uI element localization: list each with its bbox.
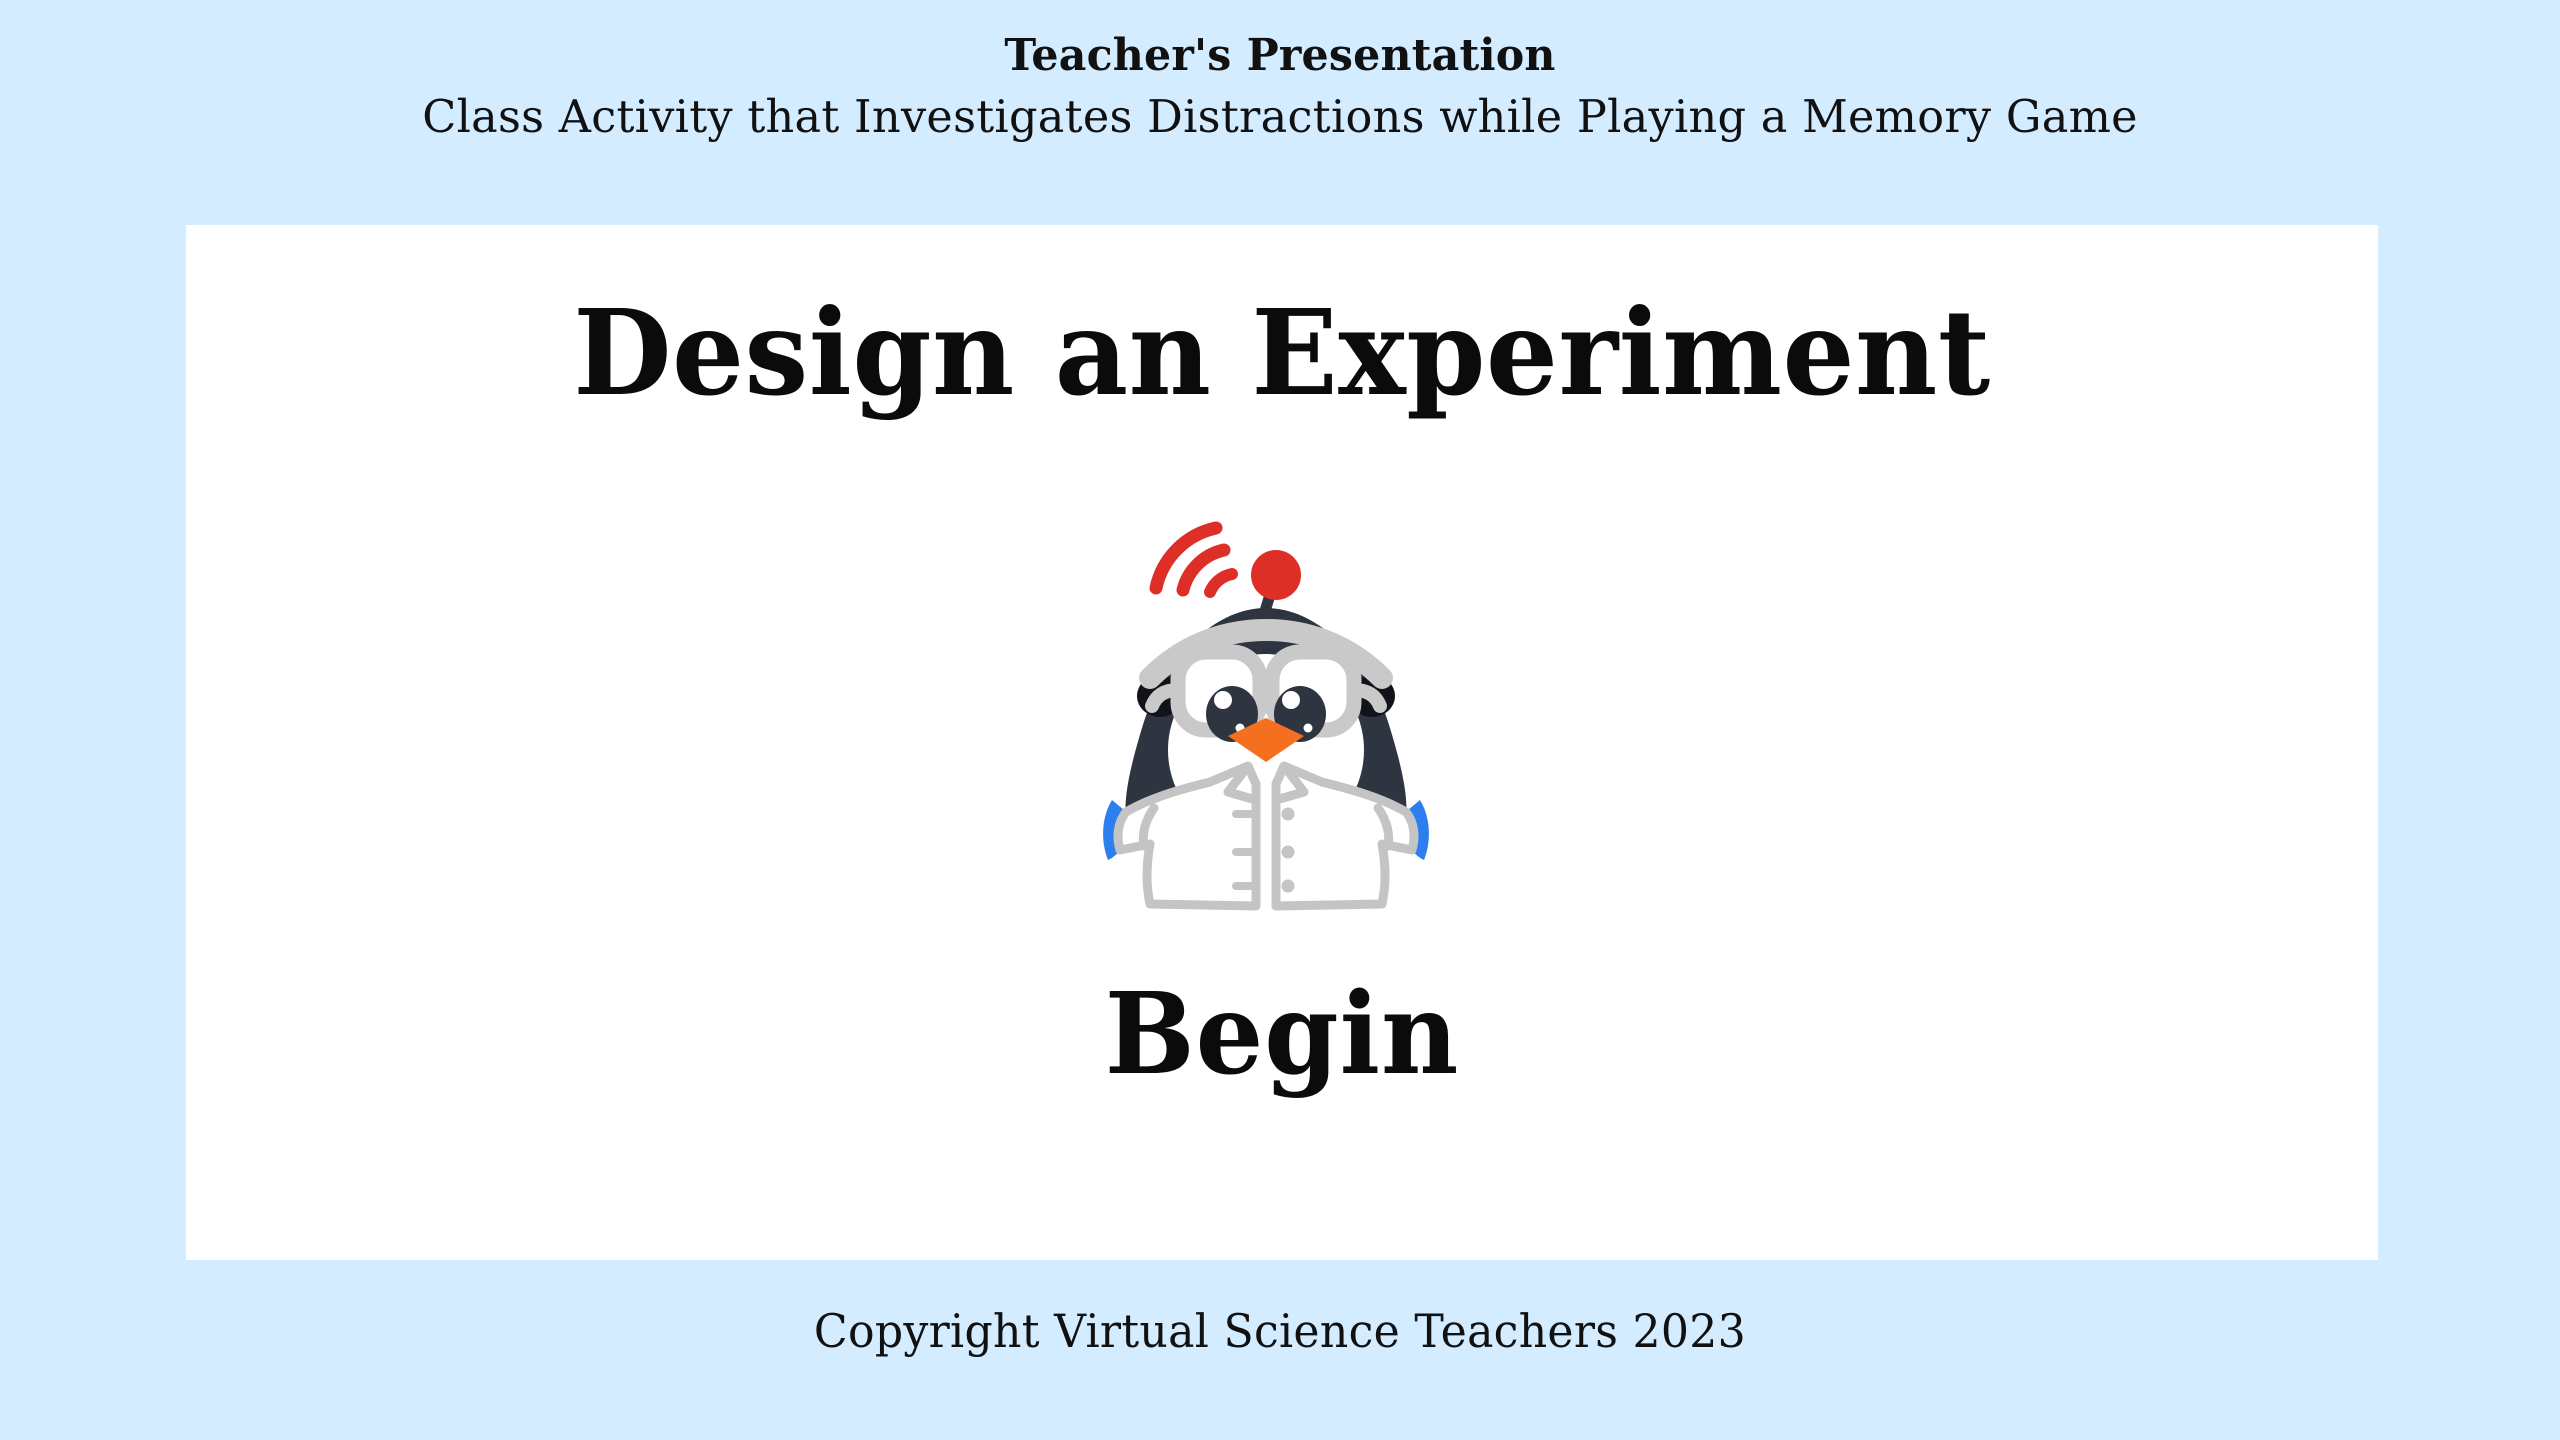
slide-title: Design an Experiment [230, 283, 2334, 423]
presentation-header-subtitle: Class Activity that Investigates Distrac… [13, 86, 2547, 148]
penguin-scientist-mascot [1060, 500, 1480, 950]
presentation-header-title: Teacher's Presentation [38, 0, 2521, 86]
copyright-footer: Copyright Virtual Science Teachers 2023 [51, 1300, 2509, 1362]
slide-canvas: Design an Experiment [186, 225, 2378, 1260]
presentation-stage: Teacher's Presentation Class Activity th… [0, 0, 2560, 1440]
wifi-signal-icon [1156, 528, 1232, 592]
begin-button[interactable]: Begin [241, 970, 2323, 1100]
penguin-scientist-icon [1060, 500, 1480, 950]
presentation-header: Teacher's Presentation Class Activity th… [0, 0, 2560, 148]
antenna-ball-icon [1251, 550, 1301, 600]
